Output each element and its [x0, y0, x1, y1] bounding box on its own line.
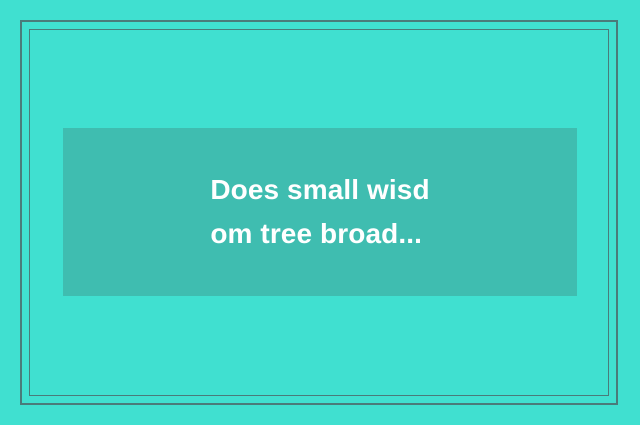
message-text-block: Does small wisd om tree broad... — [210, 168, 429, 256]
content-panel: Does small wisd om tree broad... — [63, 128, 577, 296]
message-line-1: Does small wisd — [210, 168, 429, 212]
screenshot-canvas: Does small wisd om tree broad... — [0, 0, 640, 425]
message-line-2: om tree broad... — [210, 212, 429, 256]
